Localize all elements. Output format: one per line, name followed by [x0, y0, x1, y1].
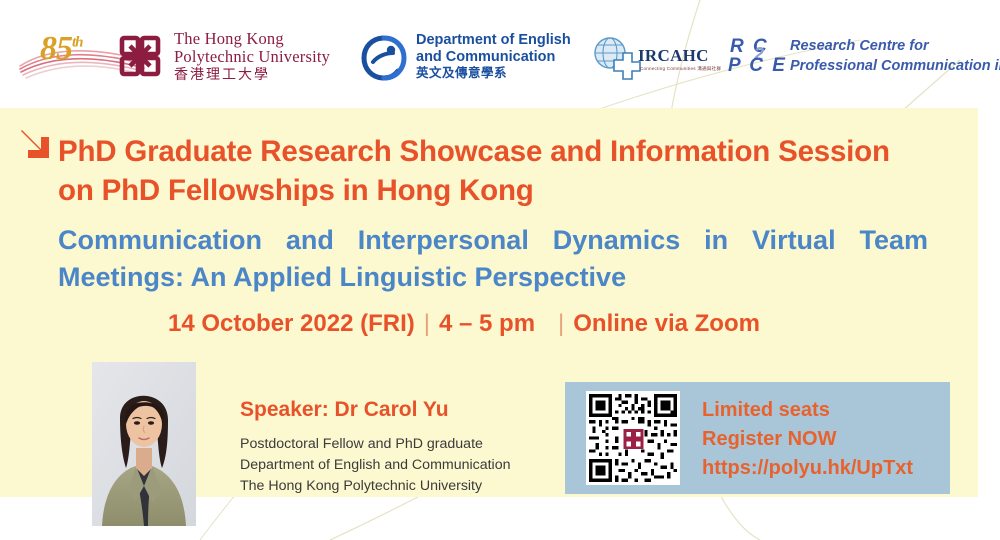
- event-date: 14 October 2022 (FRI): [168, 310, 415, 337]
- detail-separator-2: |: [549, 310, 573, 337]
- rcpce-monogram: R C 2 P C E: [728, 36, 790, 80]
- registration-line-1: Limited seats: [702, 396, 913, 425]
- talk-title-line-2: Meetings: An Applied Linguistic Perspect…: [58, 259, 928, 296]
- rcpce-logo: R C 2 P C E Research Centre for Professi…: [728, 36, 996, 84]
- speaker-affiliation-line-2: Department of English and Communication: [240, 455, 511, 476]
- ircahc-wordmark: IRCAHC: [638, 46, 709, 66]
- department-logo: Department of English and Communication …: [360, 32, 570, 90]
- polyu-wordmark: The Hong Kong Polytechnic University 香港理…: [174, 30, 330, 84]
- registration-panel: Limited seats Register NOW https://polyu…: [565, 382, 950, 494]
- ircahc-tagline: Connecting Communities 溝通與社群: [640, 66, 721, 72]
- speaker-affiliation-line-3: The Hong Kong Polytechnic University: [240, 476, 511, 497]
- department-line-chinese: 英文及傳意學系: [416, 66, 571, 81]
- department-line1: Department of English: [416, 32, 571, 49]
- talk-title-line-1: Communication and Interpersonal Dynamics…: [58, 222, 928, 259]
- headline-line-2: on PhD Fellowships in Hong Kong: [58, 171, 968, 210]
- polyu-name-chinese: 香港理工大學: [174, 68, 330, 84]
- anniversary-mark: 85th: [40, 30, 83, 68]
- down-right-arrow-icon: [16, 124, 56, 164]
- polyu-name-line1: The Hong Kong: [174, 30, 330, 48]
- registration-url[interactable]: https://polyu.hk/UpTxt: [702, 454, 913, 483]
- registration-text: Limited seats Register NOW https://polyu…: [702, 396, 913, 482]
- department-emblem-icon: [360, 34, 408, 82]
- speaker-affiliation: Postdoctoral Fellow and PhD graduate Dep…: [240, 434, 511, 497]
- speaker-affiliation-line-1: Postdoctoral Fellow and PhD graduate: [240, 434, 511, 455]
- polyu-knot-icon: [114, 30, 166, 82]
- ircahc-globe-icon: [588, 34, 644, 82]
- speaker-name: Speaker: Dr Carol Yu: [240, 398, 449, 422]
- page-title: PhD Graduate Research Showcase and Infor…: [58, 132, 968, 210]
- speaker-photo: [92, 362, 196, 526]
- logo-header: 85th The Hong Kong Polytechnic Universit…: [0, 0, 1000, 108]
- department-wordmark: Department of English and Communication …: [416, 32, 571, 81]
- headline-line-1: PhD Graduate Research Showcase and Infor…: [58, 132, 968, 171]
- rcpce-line2: Professional Communication in English: [790, 57, 1000, 77]
- event-venue: Online via Zoom: [573, 310, 760, 337]
- talk-title: Communication and Interpersonal Dynamics…: [58, 222, 928, 297]
- registration-line-2: Register NOW: [702, 425, 913, 454]
- event-details: 14 October 2022 (FRI)|4 – 5 pm|Online vi…: [168, 310, 760, 338]
- rcpce-line1: Research Centre for: [790, 37, 1000, 57]
- polyu-name-line2: Polytechnic University: [174, 48, 330, 66]
- event-poster: 85th The Hong Kong Polytechnic Universit…: [0, 0, 1000, 540]
- rcpce-wordmark: Research Centre for Professional Communi…: [790, 37, 1000, 76]
- ircahc-logo: IRCAHC Connecting Communities 溝通與社群: [588, 34, 706, 86]
- detail-separator-1: |: [415, 310, 439, 337]
- department-line2: and Communication: [416, 49, 571, 66]
- registration-qr-code[interactable]: [586, 391, 680, 485]
- event-time: 4 – 5 pm: [439, 310, 535, 337]
- rcpce-monogram-bottom: P C E: [728, 55, 787, 77]
- polyu-logo: 85th The Hong Kong Polytechnic Universit…: [18, 24, 348, 86]
